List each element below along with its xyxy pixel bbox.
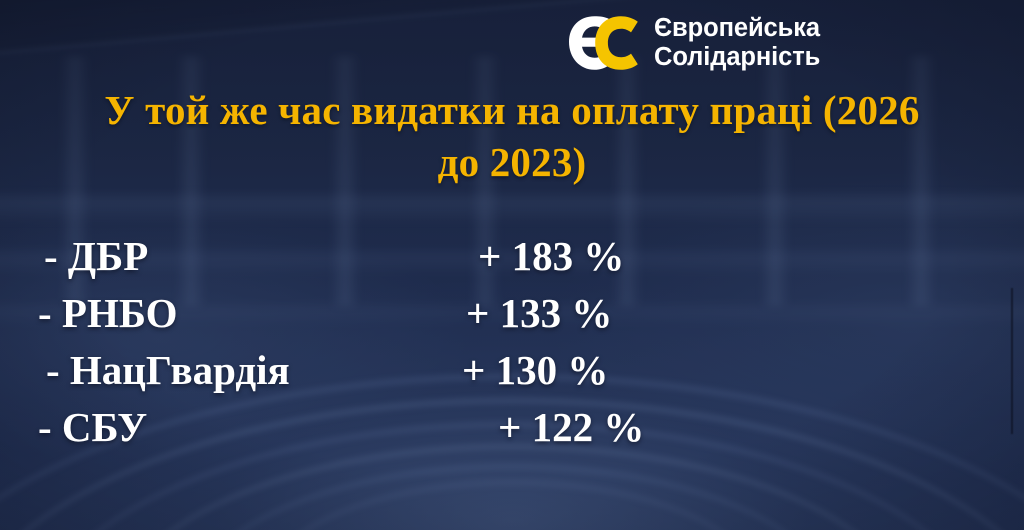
list-item: - ДБР + 183 % <box>0 228 1024 285</box>
party-name-line-2: Солідарність <box>654 43 820 72</box>
item-label: - НацГвардія <box>46 342 290 399</box>
statistics-list: - ДБР + 183 % - РНБО + 133 % - НацГварді… <box>0 228 1024 456</box>
item-label: - СБУ <box>38 399 147 456</box>
slide-title-line-2: до 2023) <box>6 136 1018 188</box>
item-value: + 122 % <box>498 399 644 456</box>
item-value: + 133 % <box>466 285 612 342</box>
slide-title-line-1: У той же час видатки на оплату праці (20… <box>6 84 1018 136</box>
item-label: - РНБО <box>38 285 178 342</box>
es-monogram-icon <box>563 12 647 74</box>
slide-title: У той же час видатки на оплату праці (20… <box>0 84 1024 188</box>
party-name-line-1: Європейська <box>654 14 820 43</box>
list-item: - НацГвардія + 130 % <box>0 342 1024 399</box>
party-logo: Європейська Солідарність <box>563 12 820 74</box>
party-name: Європейська Солідарність <box>654 14 820 72</box>
item-value: + 183 % <box>478 228 624 285</box>
item-label: - ДБР <box>44 228 148 285</box>
item-value: + 130 % <box>462 342 608 399</box>
presentation-slide: Європейська Солідарність У той же час ви… <box>0 0 1024 530</box>
list-item: - СБУ + 122 % <box>0 399 1024 456</box>
list-item: - РНБО + 133 % <box>0 285 1024 342</box>
